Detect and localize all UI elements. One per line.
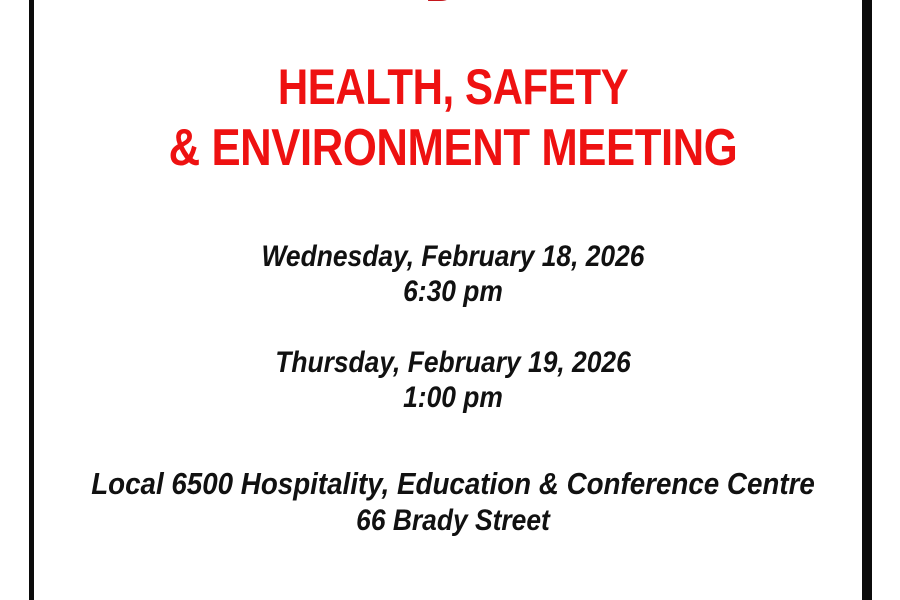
venue-block: Local 6500 Hospitality, Education & Conf… bbox=[34, 466, 872, 539]
session-one-block: Wednesday, February 18, 2026 6:30 pm bbox=[34, 240, 872, 310]
session-one-time: 6:30 pm bbox=[84, 275, 821, 310]
venue-name: Local 6500 Hospitality, Education & Conf… bbox=[78, 466, 828, 502]
session-two-block: Thursday, February 19, 2026 1:00 pm bbox=[34, 346, 872, 416]
page-title: HEALTH, SAFETY & ENVIRONMENT MEETING bbox=[34, 62, 872, 184]
headline-line-1: HEALTH, SAFETY bbox=[101, 62, 805, 112]
session-two-time: 1:00 pm bbox=[84, 381, 821, 416]
session-one-date: Wednesday, February 18, 2026 bbox=[84, 240, 821, 275]
meeting-notice-poster: D HEALTH, SAFETY & ENVIRONMENT MEETING W… bbox=[0, 0, 900, 600]
headline-line-2: & ENVIRONMENT MEETING bbox=[101, 122, 805, 174]
session-two-date: Thursday, February 19, 2026 bbox=[84, 346, 821, 381]
venue-street-address: 66 Brady Street bbox=[84, 504, 821, 539]
poster-content: HEALTH, SAFETY & ENVIRONMENT MEETING Wed… bbox=[34, 0, 872, 600]
